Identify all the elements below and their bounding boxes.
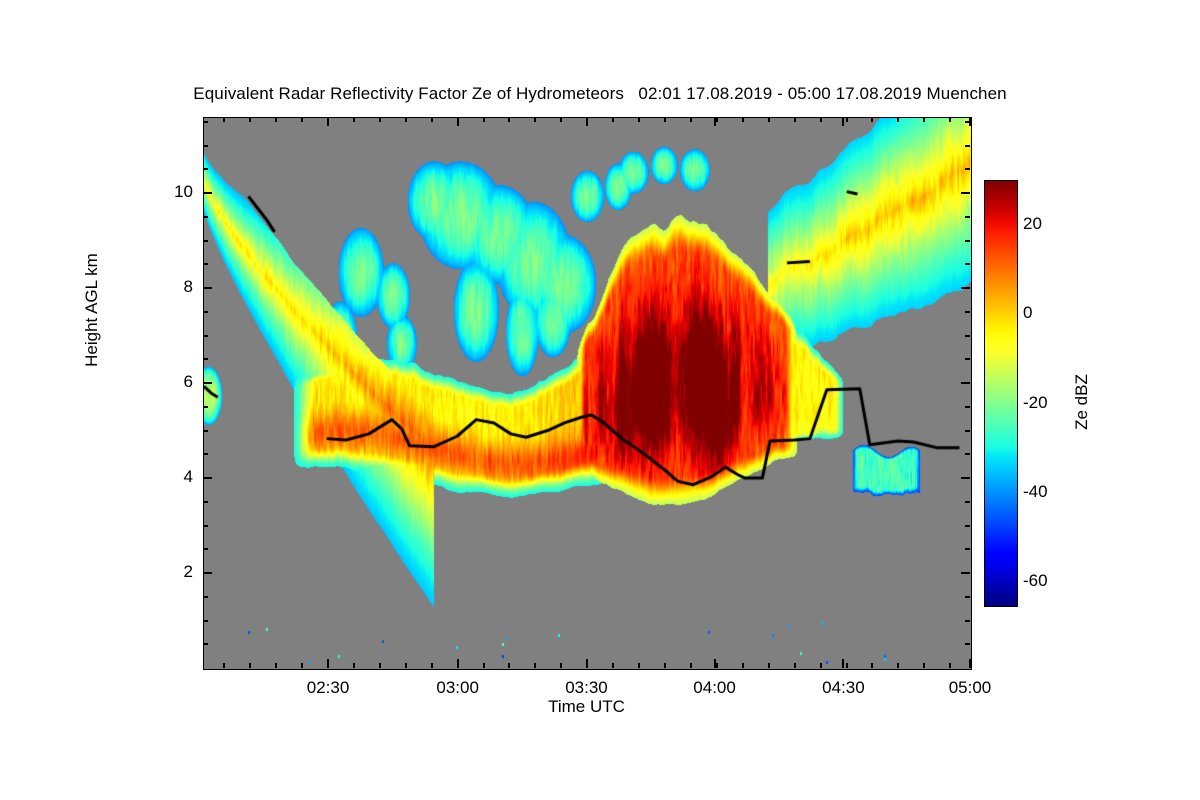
colorbar-tick-label: 0 — [1023, 303, 1032, 323]
plot-area — [203, 117, 972, 670]
x-tick-minor-top — [768, 117, 770, 122]
y-tick-minor-right — [965, 240, 970, 242]
x-tick-minor — [742, 663, 744, 668]
x-tick-minor — [871, 663, 873, 668]
x-axis-title: Time UTC — [203, 697, 970, 717]
x-tick-minor — [223, 663, 225, 668]
y-tick-major — [203, 382, 212, 384]
x-tick-minor — [846, 663, 848, 668]
y-tick-major-right — [961, 287, 970, 289]
x-tick-major-top — [969, 117, 971, 126]
y-tick-minor — [203, 335, 208, 337]
y-tick-label: 8 — [133, 277, 193, 297]
y-tick-label: 4 — [133, 467, 193, 487]
x-tick-minor — [457, 663, 459, 668]
y-tick-minor — [203, 548, 208, 550]
x-tick-minor — [949, 663, 951, 668]
x-tick-minor-top — [949, 117, 951, 122]
x-tick-minor — [560, 663, 562, 668]
x-tick-minor-top — [483, 117, 485, 122]
y-tick-label: 6 — [133, 372, 193, 392]
colorbar-title: Ze dBZ — [1072, 322, 1092, 482]
y-tick-minor-right — [965, 548, 970, 550]
y-tick-minor — [203, 430, 208, 432]
y-tick-minor — [203, 453, 208, 455]
y-tick-major — [203, 477, 212, 479]
y-tick-minor — [203, 216, 208, 218]
y-tick-minor-right — [965, 145, 970, 147]
y-tick-major-right — [961, 192, 970, 194]
y-tick-minor — [203, 406, 208, 408]
y-axis-title: Height AGL km — [82, 200, 102, 420]
x-tick-minor-top — [820, 117, 822, 122]
x-tick-major-top — [842, 117, 844, 126]
y-tick-major — [203, 572, 212, 574]
y-tick-minor-right — [965, 620, 970, 622]
x-tick-minor-top — [249, 117, 251, 122]
y-tick-minor — [203, 145, 208, 147]
y-tick-minor — [203, 311, 208, 313]
y-tick-minor-right — [965, 596, 970, 598]
x-tick-minor-top — [638, 117, 640, 122]
y-tick-label: 2 — [133, 562, 193, 582]
y-tick-minor — [203, 240, 208, 242]
colorbar-tick-label: -60 — [1023, 571, 1048, 591]
y-tick-minor — [203, 168, 208, 170]
y-tick-minor — [203, 643, 208, 645]
x-tick-minor — [431, 663, 433, 668]
x-tick-minor-top — [897, 117, 899, 122]
x-tick-minor — [768, 663, 770, 668]
y-tick-major — [203, 192, 212, 194]
x-tick-minor-top — [379, 117, 381, 122]
y-tick-minor-right — [965, 216, 970, 218]
y-tick-minor — [203, 620, 208, 622]
x-tick-minor — [716, 663, 718, 668]
y-tick-major — [203, 287, 212, 289]
x-tick-minor-top — [457, 117, 459, 122]
x-tick-minor-top — [327, 117, 329, 122]
x-tick-minor — [327, 663, 329, 668]
x-tick-minor — [275, 663, 277, 668]
x-tick-minor-top — [716, 117, 718, 122]
y-tick-minor-right — [965, 430, 970, 432]
x-tick-minor — [794, 663, 796, 668]
x-tick-minor — [638, 663, 640, 668]
chart-title: Equivalent Radar Reflectivity Factor Ze … — [0, 84, 1200, 104]
y-tick-minor-right — [965, 263, 970, 265]
x-tick-minor-top — [923, 117, 925, 122]
colorbar-gradient — [985, 181, 1017, 606]
x-tick-minor — [664, 663, 666, 668]
x-tick-minor-top — [846, 117, 848, 122]
y-tick-label: 10 — [133, 182, 193, 202]
colorbar-tick-label: 20 — [1023, 214, 1042, 234]
y-tick-minor-right — [965, 168, 970, 170]
figure-root: Equivalent Radar Reflectivity Factor Ze … — [0, 0, 1200, 800]
x-tick-minor-top — [534, 117, 536, 122]
y-tick-major-right — [961, 382, 970, 384]
y-tick-minor-right — [965, 406, 970, 408]
y-tick-minor-right — [965, 335, 970, 337]
y-tick-minor-right — [965, 453, 970, 455]
reflectivity-heatmap — [204, 118, 971, 669]
x-tick-minor — [923, 663, 925, 668]
y-tick-major-right — [961, 477, 970, 479]
x-tick-minor-top — [275, 117, 277, 122]
x-tick-label: 04:00 — [670, 678, 760, 698]
y-tick-minor — [203, 525, 208, 527]
x-tick-label: 03:00 — [413, 678, 503, 698]
y-tick-minor — [203, 501, 208, 503]
y-tick-minor — [203, 358, 208, 360]
y-tick-minor — [203, 121, 208, 123]
x-tick-major — [969, 659, 971, 668]
x-tick-label: 02:30 — [283, 678, 373, 698]
x-tick-minor-top — [612, 117, 614, 122]
x-tick-minor-top — [664, 117, 666, 122]
x-tick-major — [842, 659, 844, 668]
y-tick-minor — [203, 596, 208, 598]
y-tick-major-right — [961, 572, 970, 574]
x-tick-minor — [586, 663, 588, 668]
x-tick-minor — [534, 663, 536, 668]
x-tick-minor-top — [353, 117, 355, 122]
colorbar-tick-label: -40 — [1023, 482, 1048, 502]
y-tick-minor — [203, 263, 208, 265]
x-tick-minor-top — [405, 117, 407, 122]
y-tick-minor-right — [965, 525, 970, 527]
x-tick-minor-top — [794, 117, 796, 122]
x-tick-minor — [249, 663, 251, 668]
x-tick-minor-top — [690, 117, 692, 122]
x-tick-minor — [897, 663, 899, 668]
colorbar-tick-label: -20 — [1023, 393, 1048, 413]
colorbar — [984, 180, 1018, 607]
x-tick-minor — [405, 663, 407, 668]
x-tick-minor-top — [223, 117, 225, 122]
x-tick-label: 04:30 — [798, 678, 888, 698]
x-tick-minor-top — [431, 117, 433, 122]
x-tick-minor — [612, 663, 614, 668]
x-tick-minor-top — [560, 117, 562, 122]
x-tick-minor — [820, 663, 822, 668]
x-tick-minor — [353, 663, 355, 668]
y-tick-minor-right — [965, 501, 970, 503]
y-tick-minor-right — [965, 358, 970, 360]
x-tick-minor-top — [508, 117, 510, 122]
x-tick-label: 03:30 — [542, 678, 632, 698]
x-tick-minor — [379, 663, 381, 668]
y-tick-minor-right — [965, 311, 970, 313]
x-tick-minor — [690, 663, 692, 668]
x-tick-minor-top — [301, 117, 303, 122]
x-tick-minor-top — [742, 117, 744, 122]
y-tick-minor-right — [965, 643, 970, 645]
x-tick-minor — [301, 663, 303, 668]
x-tick-label: 05:00 — [925, 678, 1015, 698]
x-tick-minor — [483, 663, 485, 668]
x-tick-minor-top — [586, 117, 588, 122]
x-tick-minor — [508, 663, 510, 668]
x-tick-minor-top — [871, 117, 873, 122]
